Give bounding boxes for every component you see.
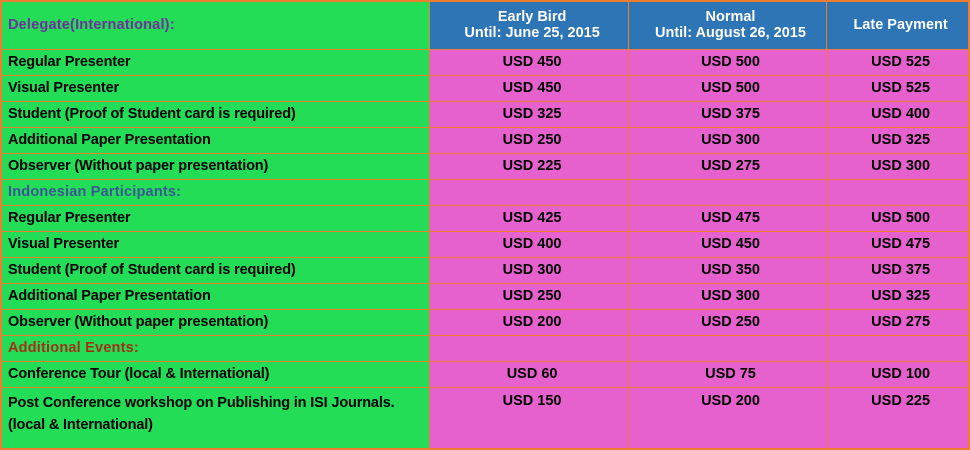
price-cell: USD 300 bbox=[827, 153, 969, 179]
price-cell: USD 500 bbox=[827, 205, 969, 231]
price-cell: USD 325 bbox=[827, 127, 969, 153]
header-column-normal: Normal Until: August 26, 2015 bbox=[628, 1, 826, 49]
header-column-late-payment: Late Payment bbox=[827, 1, 969, 49]
row-label: Visual Presenter bbox=[1, 75, 430, 101]
registration-fee-table: Delegate(International): Early Bird Unti… bbox=[0, 0, 970, 450]
price-cell: USD 325 bbox=[827, 283, 969, 309]
price-cell: USD 325 bbox=[430, 101, 628, 127]
row-label: Visual Presenter bbox=[1, 231, 430, 257]
table-row: Visual PresenterUSD 400USD 450USD 475 bbox=[1, 231, 969, 257]
price-cell bbox=[430, 335, 628, 361]
row-label: Observer (Without paper presentation) bbox=[1, 309, 430, 335]
price-cell: USD 500 bbox=[628, 49, 826, 75]
header-normal-title: Normal bbox=[635, 9, 826, 26]
price-cell: USD 475 bbox=[827, 231, 969, 257]
row-label: Regular Presenter bbox=[1, 205, 430, 231]
price-cell: USD 375 bbox=[827, 257, 969, 283]
price-cell: USD 250 bbox=[430, 283, 628, 309]
price-cell bbox=[628, 179, 826, 205]
table-row: Indonesian Participants: bbox=[1, 179, 969, 205]
price-cell: USD 525 bbox=[827, 75, 969, 101]
price-cell: USD 425 bbox=[430, 205, 628, 231]
price-cell: USD 450 bbox=[430, 75, 628, 101]
table-row: Observer (Without paper presentation)USD… bbox=[1, 153, 969, 179]
header-late-payment-title: Late Payment bbox=[833, 17, 968, 34]
table-row: Regular PresenterUSD 425USD 475USD 500 bbox=[1, 205, 969, 231]
table-row: Student (Proof of Student card is requir… bbox=[1, 101, 969, 127]
row-label: Student (Proof of Student card is requir… bbox=[1, 257, 430, 283]
price-cell: USD 400 bbox=[827, 101, 969, 127]
table-row: Observer (Without paper presentation)USD… bbox=[1, 309, 969, 335]
header-category-label: Delegate(International): bbox=[1, 1, 430, 49]
table-header-row: Delegate(International): Early Bird Unti… bbox=[1, 1, 969, 49]
price-cell: USD 400 bbox=[430, 231, 628, 257]
row-label: Regular Presenter bbox=[1, 49, 430, 75]
price-cell: USD 225 bbox=[827, 387, 969, 449]
price-cell: USD 450 bbox=[628, 231, 826, 257]
price-cell: USD 450 bbox=[430, 49, 628, 75]
price-cell: USD 250 bbox=[430, 127, 628, 153]
row-label: Additional Paper Presentation bbox=[1, 127, 430, 153]
price-cell bbox=[827, 335, 969, 361]
fee-table-sheet: Delegate(International): Early Bird Unti… bbox=[0, 0, 970, 450]
header-early-bird-title: Early Bird bbox=[436, 9, 627, 26]
row-label: Post Conference workshop on Publishing i… bbox=[1, 387, 430, 449]
price-cell: USD 350 bbox=[628, 257, 826, 283]
price-cell bbox=[628, 335, 826, 361]
price-cell: USD 300 bbox=[628, 283, 826, 309]
price-cell: USD 225 bbox=[430, 153, 628, 179]
header-early-bird-deadline: Until: June 25, 2015 bbox=[436, 25, 627, 42]
price-cell bbox=[430, 179, 628, 205]
header-column-early-bird: Early Bird Until: June 25, 2015 bbox=[430, 1, 628, 49]
price-cell: USD 500 bbox=[628, 75, 826, 101]
price-cell bbox=[827, 179, 969, 205]
row-label: Student (Proof of Student card is requir… bbox=[1, 101, 430, 127]
section-header-additional-events: Additional Events: bbox=[1, 335, 430, 361]
section-header-indonesian: Indonesian Participants: bbox=[1, 179, 430, 205]
price-cell: USD 75 bbox=[628, 361, 826, 387]
price-cell: USD 300 bbox=[430, 257, 628, 283]
price-cell: USD 60 bbox=[430, 361, 628, 387]
row-label: Conference Tour (local & International) bbox=[1, 361, 430, 387]
price-cell: USD 300 bbox=[628, 127, 826, 153]
row-label: Additional Paper Presentation bbox=[1, 283, 430, 309]
table-row: Conference Tour (local & International)U… bbox=[1, 361, 969, 387]
price-cell: USD 150 bbox=[430, 387, 628, 449]
price-cell: USD 275 bbox=[628, 153, 826, 179]
table-row: Additional Events: bbox=[1, 335, 969, 361]
header-normal-deadline: Until: August 26, 2015 bbox=[635, 25, 826, 42]
price-cell: USD 250 bbox=[628, 309, 826, 335]
table-row: Student (Proof of Student card is requir… bbox=[1, 257, 969, 283]
row-label: Observer (Without paper presentation) bbox=[1, 153, 430, 179]
table-row: Additional Paper PresentationUSD 250USD … bbox=[1, 283, 969, 309]
price-cell: USD 475 bbox=[628, 205, 826, 231]
price-cell: USD 375 bbox=[628, 101, 826, 127]
price-cell: USD 100 bbox=[827, 361, 969, 387]
price-cell: USD 275 bbox=[827, 309, 969, 335]
price-cell: USD 525 bbox=[827, 49, 969, 75]
price-cell: USD 200 bbox=[628, 387, 826, 449]
table-row: Post Conference workshop on Publishing i… bbox=[1, 387, 969, 449]
fee-table-body: Delegate(International): Early Bird Unti… bbox=[1, 1, 969, 449]
table-row: Additional Paper PresentationUSD 250USD … bbox=[1, 127, 969, 153]
price-cell: USD 200 bbox=[430, 309, 628, 335]
table-row: Regular PresenterUSD 450USD 500USD 525 bbox=[1, 49, 969, 75]
table-row: Visual PresenterUSD 450USD 500USD 525 bbox=[1, 75, 969, 101]
